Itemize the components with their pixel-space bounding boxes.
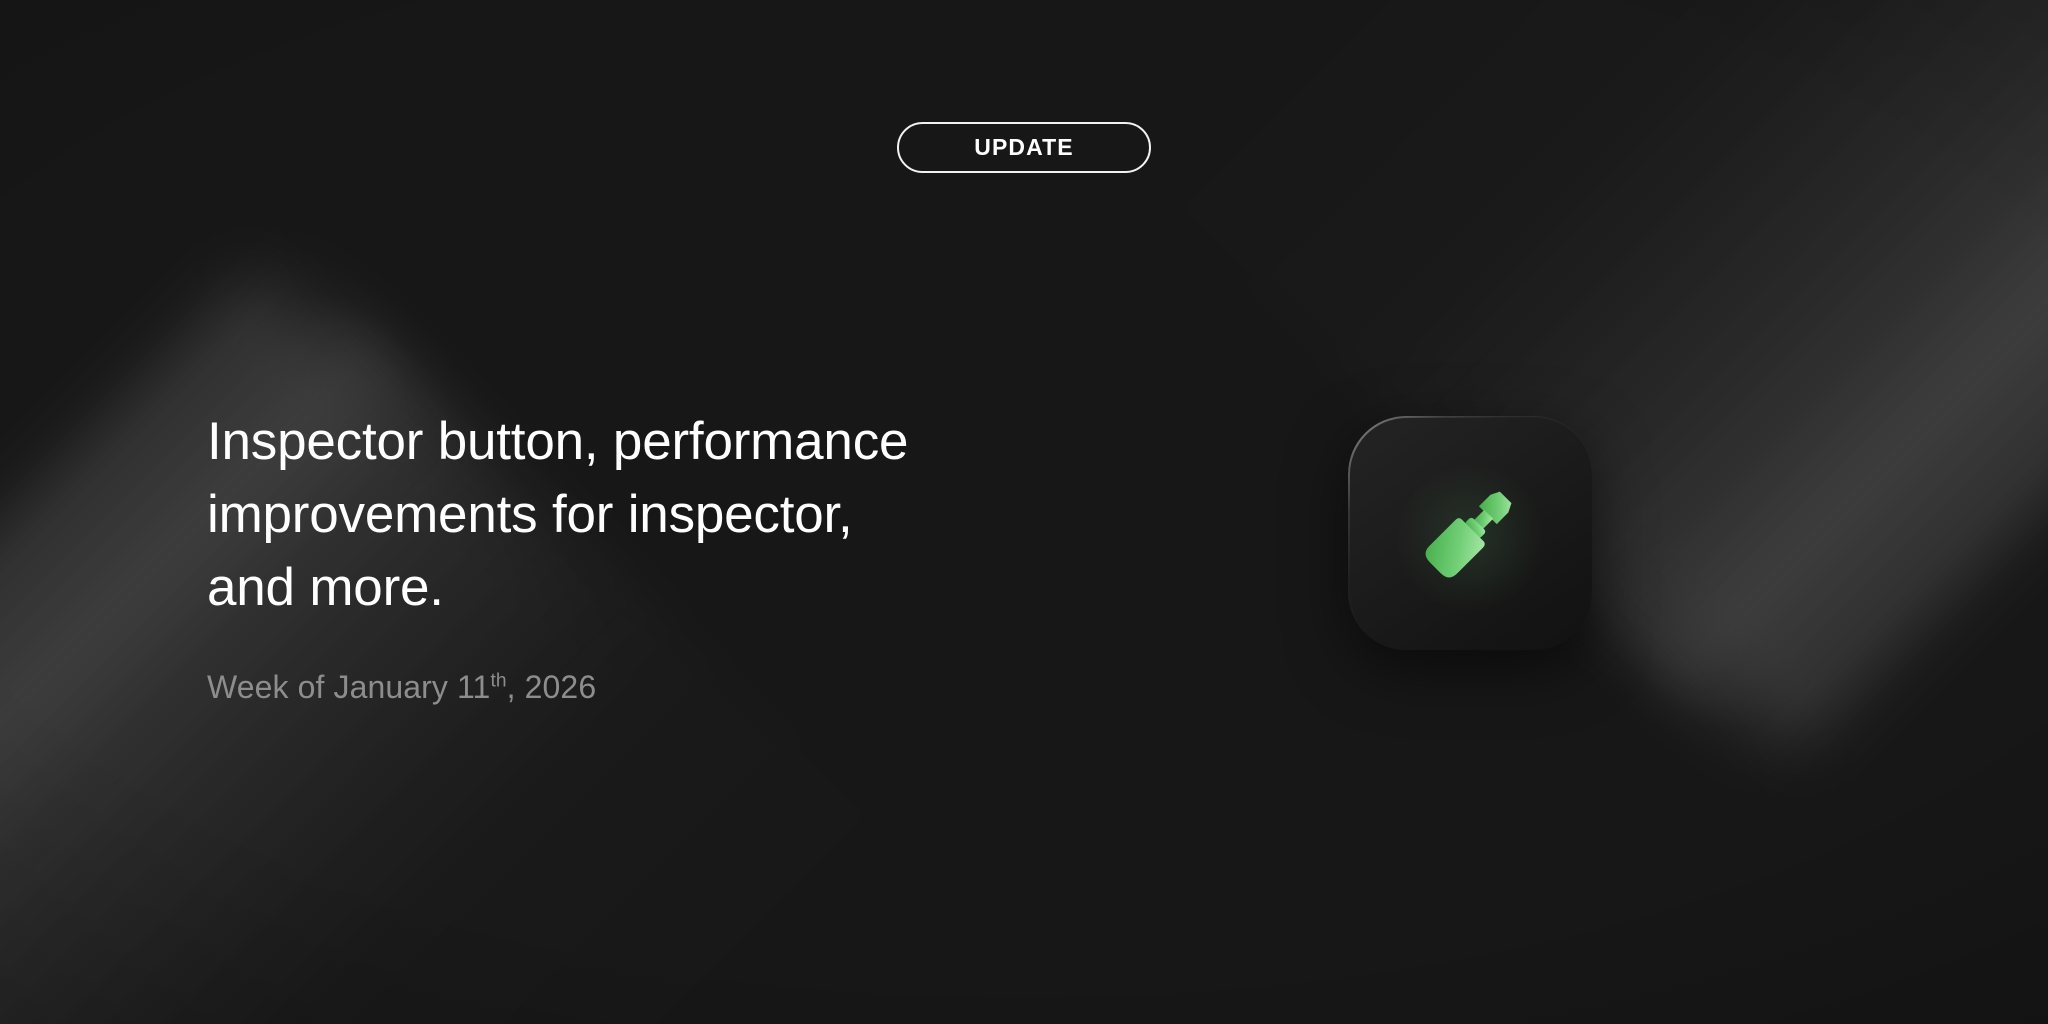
page-title: Inspector button, performance improvemen… — [207, 405, 1147, 624]
date-ordinal-suffix: th — [490, 670, 506, 691]
update-badge[interactable]: UPDATE — [897, 122, 1151, 173]
date-suffix: , 2026 — [507, 669, 597, 705]
screwdriver-icon — [1407, 470, 1533, 596]
update-badge-label: UPDATE — [974, 136, 1073, 159]
content-block: Inspector button, performance improvemen… — [207, 405, 1147, 706]
date-label: Week of January 11th, 2026 — [207, 668, 1147, 706]
update-banner: UPDATE Inspector button, performance imp… — [0, 0, 2048, 1024]
screwdriver-tile — [1348, 416, 1592, 650]
date-prefix: Week of January 11 — [207, 669, 490, 705]
